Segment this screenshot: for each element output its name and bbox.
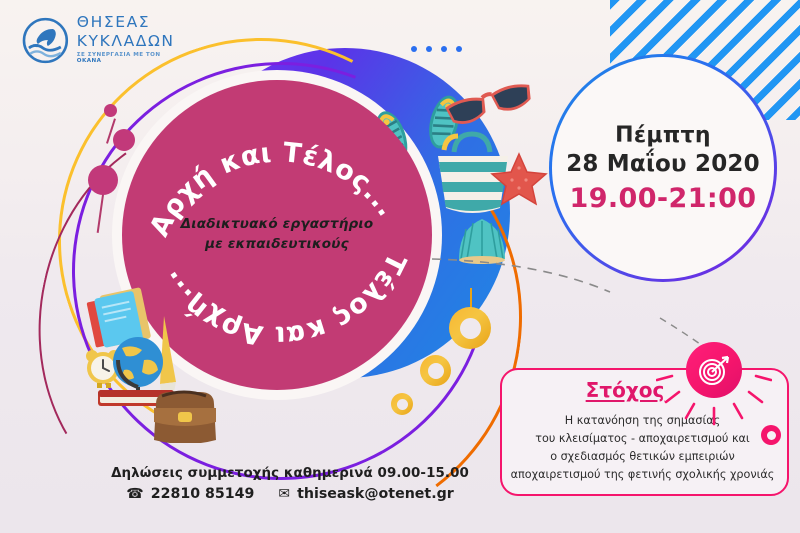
envelope-icon: ✉ (278, 486, 290, 502)
contact-block: Δηλώσεις συμμετοχής καθημερινά 09.00-15.… (0, 466, 580, 502)
blue-dot-1 (411, 46, 417, 52)
gold-ring-small (391, 393, 413, 415)
blue-dot-3 (441, 46, 447, 52)
school-supplies-cluster-icon (60, 278, 240, 443)
contact-hours: Δηλώσεις συμμετοχής καθημερινά 09.00-15.… (0, 466, 580, 481)
contact-phone[interactable]: 22810 85149 (151, 486, 255, 502)
date-day-label: Πέμπτη (615, 123, 711, 148)
contact-details: ☎ 22810 85149 ✉ thiseask@otenet.gr (0, 486, 580, 502)
blue-dot-4 (456, 46, 462, 52)
contact-email[interactable]: thiseask@otenet.gr (297, 486, 454, 502)
logo-tagline: ΣΕ ΣΥΝΕΡΓΑΣΙΑ ΜΕ ΤΟΝ ΟΚΑΝΑ (77, 53, 187, 64)
date-full-label: 28 Μαΐου 2020 (566, 151, 760, 177)
logo[interactable]: ΘΗΣΕΑΣ ΚΥΚΛΑΔΩΝ ΣΕ ΣΥΝΕΡΓΑΣΙΑ ΜΕ ΤΟΝ ΟΚΑ… (22, 12, 187, 68)
magenta-dot-large (88, 165, 118, 195)
telephone-icon: ☎ (126, 486, 143, 502)
target-bullseye-icon (686, 342, 742, 398)
gold-ring-medium (420, 355, 451, 386)
goal-line-3: ο σχεδιασμός θετικών εμπειριών (500, 448, 785, 466)
logo-line-2: ΚΥΚΛΑΔΩΝ (77, 34, 187, 50)
dolphin-wave-icon (22, 17, 69, 64)
logo-tagline-bold: ΟΚΑΝΑ (77, 58, 102, 64)
magenta-dot-medium (113, 129, 135, 151)
seashell-icon (455, 215, 509, 265)
date-time-label: 19.00-21:00 (570, 183, 757, 214)
magenta-dot-small (104, 104, 117, 117)
workshop-line-2: με εκπαιδευτικούς (205, 235, 349, 255)
logo-line-1: ΘΗΣΕΑΣ (77, 15, 187, 31)
starfish-icon (490, 150, 548, 208)
date-circle: Πέμπτη 28 Μαΐου 2020 19.00-21:00 (549, 54, 777, 282)
workshop-line-1: Διαδικτυακό εργαστήριο (181, 215, 374, 235)
goal-line-2: του κλεισίματος - αποχαιρετισμού και (500, 430, 785, 448)
blue-dot-2 (426, 46, 432, 52)
gold-ring-large (449, 307, 491, 349)
goal-knob-decor (761, 425, 781, 445)
poster-canvas: Αρχή και Τέλος... Τέλος και Αρχή... Διαδ… (0, 0, 800, 533)
